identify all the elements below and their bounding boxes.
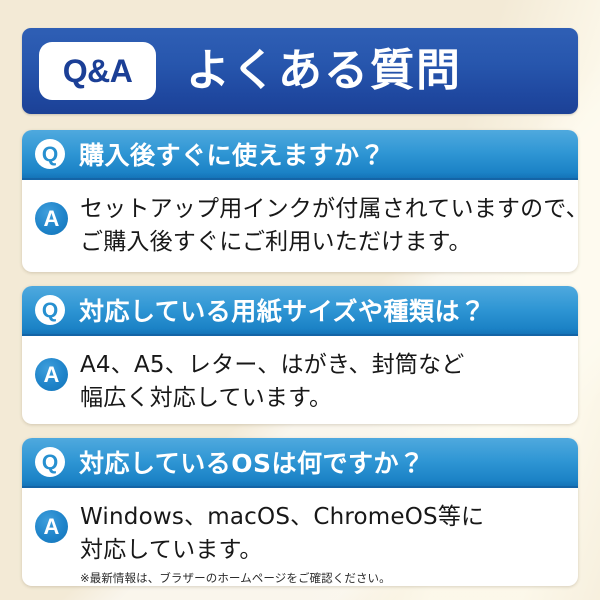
question-row: Q 購入後すぐに使えますか？ [22, 130, 578, 180]
question-row: Q 対応しているOSは何ですか？ [22, 438, 578, 488]
faq-item: Q 対応しているOSは何ですか？ A Windows、macOS、ChromeO… [22, 438, 578, 586]
answer-body: A4、A5、レター、はがき、封筒など 幅広く対応しています。 [80, 349, 564, 414]
header-banner: Q&A よくある質問 [22, 28, 578, 114]
answer-footnote: ※最新情報は、ブラザーのホームページをご確認ください。 [80, 571, 564, 586]
answer-row: A A4、A5、レター、はがき、封筒など 幅広く対応しています。 [22, 336, 578, 414]
answer-row: A セットアップ用インクが付属されていますので、 ご購入後すぐにご利用いただけま… [22, 180, 578, 258]
faq-page: Q&A よくある質問 Q 購入後すぐに使えますか？ A セットアップ用インクが付… [0, 0, 600, 600]
answer-marker-label: A [44, 208, 60, 230]
question-marker-icon: Q [35, 447, 65, 477]
question-text: 対応している用紙サイズや種類は？ [79, 292, 486, 328]
question-text: 購入後すぐに使えますか？ [79, 136, 385, 172]
answer-line: 対応しています。 [80, 534, 564, 567]
faq-item: Q 購入後すぐに使えますか？ A セットアップ用インクが付属されていますので、 … [22, 130, 578, 272]
qa-badge-label: Q&A [63, 53, 133, 90]
answer-line: A4、A5、レター、はがき、封筒など [80, 349, 564, 382]
question-marker-label: Q [42, 452, 58, 473]
answer-row: A Windows、macOS、ChromeOS等に 対応しています。 ※最新情… [22, 488, 578, 586]
question-marker-icon: Q [35, 139, 65, 169]
question-row: Q 対応している用紙サイズや種類は？ [22, 286, 578, 336]
answer-marker-label: A [44, 516, 60, 538]
answer-marker-label: A [44, 364, 60, 386]
answer-line: Windows、macOS、ChromeOS等に [80, 501, 564, 534]
question-marker-label: Q [42, 144, 58, 165]
qa-badge-icon: Q&A [39, 42, 156, 100]
question-text: 対応しているOSは何ですか？ [79, 444, 425, 480]
answer-body: セットアップ用インクが付属されていますので、 ご購入後すぐにご利用いただけます。 [80, 193, 578, 258]
question-marker-icon: Q [35, 295, 65, 325]
answer-line: ご購入後すぐにご利用いただけます。 [80, 226, 578, 259]
page-title: よくある質問 [186, 49, 462, 93]
answer-marker-icon: A [35, 510, 68, 543]
faq-item: Q 対応している用紙サイズや種類は？ A A4、A5、レター、はがき、封筒など … [22, 286, 578, 424]
answer-body: Windows、macOS、ChromeOS等に 対応しています。 ※最新情報は… [80, 501, 564, 586]
question-marker-label: Q [42, 300, 58, 321]
answer-marker-icon: A [35, 202, 68, 235]
answer-line: 幅広く対応しています。 [80, 382, 564, 415]
answer-line: セットアップ用インクが付属されていますので、 [80, 193, 578, 226]
answer-marker-icon: A [35, 358, 68, 391]
